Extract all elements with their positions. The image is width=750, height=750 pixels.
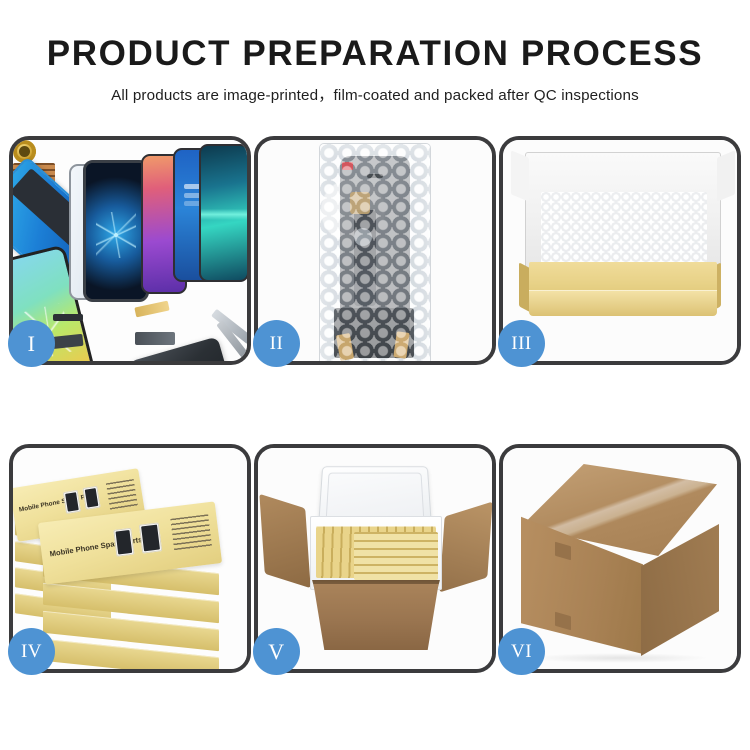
- process-step-panel-1: I: [9, 136, 251, 365]
- page-title: PRODUCT PREPARATION PROCESS: [0, 34, 750, 74]
- page-subtitle: All products are image-printed，film-coat…: [0, 83, 750, 105]
- step-numeral-badge-2: II: [253, 320, 300, 367]
- lcd-flex-cable-image: [354, 210, 376, 306]
- step-numeral-badge-6: VI: [498, 628, 545, 675]
- red-qc-sticker-image: [342, 162, 353, 170]
- carton-shadow-image: [529, 653, 709, 663]
- retail-box-phone-thumb: [63, 490, 81, 514]
- phone-display-blue-artwork-image: [83, 160, 149, 302]
- spare-part-connector-strip-image: [135, 332, 175, 345]
- retail-box-spec-lines: [170, 514, 212, 552]
- step-numeral-badge-3: III: [498, 320, 545, 367]
- retail-box-phone-thumb: [113, 528, 134, 557]
- carton-flap-left-image: [259, 494, 310, 588]
- process-step-panel-4: Mobile Phone Spare Parts Mobile Phone Sp…: [9, 444, 251, 673]
- spare-part-flex-cable-gold-image: [134, 301, 169, 318]
- process-step-grid: I II III: [9, 136, 741, 673]
- process-step-panel-6: VI: [499, 444, 741, 673]
- phone-display-teal-image: [199, 144, 247, 282]
- packed-retail-boxes-row-image: [354, 532, 438, 580]
- display-notch-image: [367, 174, 383, 178]
- inner-box-front-wall-image: [529, 290, 717, 316]
- retail-box-phone-thumb: [139, 522, 162, 553]
- step-numeral-badge-4: IV: [8, 628, 55, 675]
- retail-box-spec-lines: [106, 479, 138, 511]
- process-step-panel-5: V: [254, 444, 496, 673]
- carton-flap-right-image: [439, 502, 492, 593]
- step-numeral-badge-5: V: [253, 628, 300, 675]
- process-step-panel-3: III: [499, 136, 741, 365]
- header: PRODUCT PREPARATION PROCESS All products…: [0, 0, 750, 105]
- step-numeral-badge-1: I: [8, 320, 55, 367]
- spare-part-antenna-bar-image: [53, 314, 83, 321]
- retail-box-phone-thumb: [82, 486, 100, 510]
- lcd-lower-assembly-image: [334, 308, 414, 358]
- carton-front-wall-image: [308, 584, 444, 650]
- process-step-panel-2: II: [254, 136, 496, 365]
